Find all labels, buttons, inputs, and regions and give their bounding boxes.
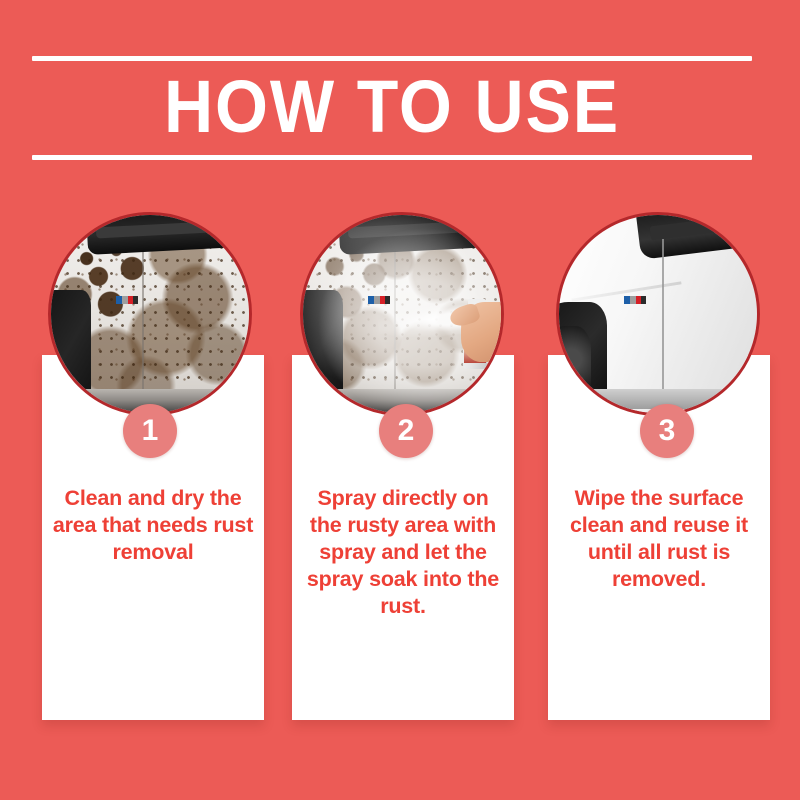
steps-container: Clean and dry the area that needs rust r… [0,0,800,800]
step-2-photo [300,212,504,416]
step-2-text: Spray directly on the rusty area with sp… [302,485,504,620]
step-1-text: Clean and dry the area that needs rust r… [52,485,254,566]
step-3-text: Wipe the surface clean and reuse it unti… [558,485,760,593]
infographic-root: HOW TO USE Clean and dry the area that n… [0,0,800,800]
m-emblem-icon [624,296,646,304]
step-3-photo [556,212,760,416]
hand-icon [461,302,504,361]
step-2-badge: 2 [379,404,433,458]
step-3-badge: 3 [640,404,694,458]
step-1-badge: 1 [123,404,177,458]
wheel-arch-shadow [48,290,91,401]
m-emblem-icon [368,296,390,304]
m-emblem-icon [116,296,138,304]
door-seam [662,239,664,393]
step-1-photo [48,212,252,416]
panel-seam [142,227,144,401]
